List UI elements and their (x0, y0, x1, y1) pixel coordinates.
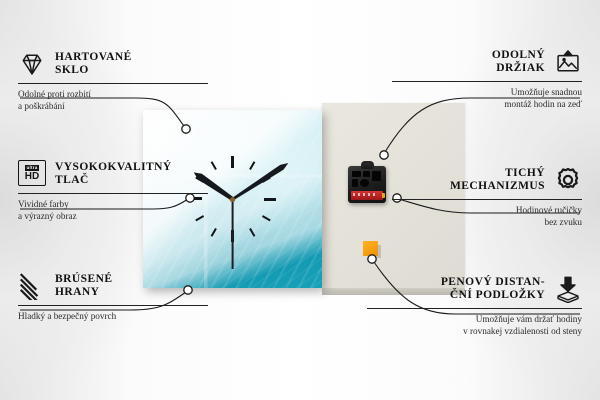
feature-divider (367, 308, 582, 309)
feature-divider (392, 199, 582, 200)
feature-subtitle: Vividné farby a výrazný obraz (18, 198, 208, 222)
feature-header: BRÚSENÉ HRANY (18, 272, 208, 300)
ultra-hd-badge-main: HD (25, 171, 39, 182)
feature-durable-holder: ODOLNÝ DRŽIAK Umožňuje snadnou montáž ho… (392, 48, 582, 110)
clock-mechanism (348, 166, 386, 203)
feature-header: ultra HD VYSOKOKVALITNÝ TLAČ (18, 160, 208, 188)
feature-subtitle: Umožňuje snadnou montáž hodin na zeď (392, 86, 582, 110)
clock-battery (351, 191, 383, 200)
feature-high-quality-print: ultra HD VYSOKOKVALITNÝ TLAČ Vividné far… (18, 160, 208, 222)
battery-label (353, 193, 377, 196)
mechanism-hanger-hook (361, 161, 374, 169)
feature-divider (392, 81, 582, 82)
feature-title: BRÚSENÉ HRANY (55, 273, 112, 300)
clock-center-cap (230, 197, 235, 202)
mechanism-vent (372, 171, 381, 181)
feature-silent-mechanism: TICHÝ MECHANIZMUS Hodinové ručičky bez z… (392, 166, 582, 228)
clock-second-hand (232, 199, 234, 269)
feature-header: TICHÝ MECHANIZMUS (392, 166, 582, 194)
feature-subtitle: Umožňuje vám držať hodiny v rovnakej vzd… (367, 313, 582, 337)
feature-title: TICHÝ MECHANIZMUS (450, 167, 545, 194)
feature-polished-edges: BRÚSENÉ HRANY Hladký a bezpečný povrch (18, 272, 208, 322)
feature-divider (18, 305, 208, 306)
feature-header: HARTOVANÉ SKLO (18, 50, 208, 78)
gear-icon (554, 166, 582, 194)
feature-title: VYSOKOKVALITNÝ TLAČ (55, 161, 172, 188)
picture-hanger-icon (554, 48, 582, 76)
feature-foam-spacers: PENOVÝ DISTAN- ČNÍ PODLOŽKY Umožňuje vám… (367, 275, 582, 337)
mechanism-vent (360, 179, 369, 187)
diamond-icon (18, 50, 46, 78)
feature-divider (18, 193, 208, 194)
foam-spacer-pad (363, 241, 378, 256)
ultra-hd-icon: ultra HD (18, 160, 46, 188)
feature-subtitle: Hodinové ručičky bez zvuku (392, 204, 582, 228)
stacked-arrow-icon (554, 275, 582, 303)
feature-header: PENOVÝ DISTAN- ČNÍ PODLOŽKY (367, 275, 582, 303)
feature-title: HARTOVANÉ SKLO (55, 51, 132, 78)
mechanism-vent (363, 171, 370, 177)
bevel-lines-icon (18, 272, 46, 300)
feature-title: PENOVÝ DISTAN- ČNÍ PODLOŽKY (441, 276, 545, 303)
mechanism-vent (352, 171, 361, 177)
feature-tempered-glass: HARTOVANÉ SKLO Odolné proti rozbití a po… (18, 50, 208, 112)
feature-subtitle: Odolné proti rozbití a poškrábání (18, 88, 208, 112)
feature-subtitle: Hladký a bezpečný povrch (18, 310, 208, 322)
feature-title: ODOLNÝ DRŽIAK (492, 49, 545, 76)
mechanism-vent (352, 179, 358, 187)
feature-header: ODOLNÝ DRŽIAK (392, 48, 582, 76)
feature-divider (18, 83, 208, 84)
